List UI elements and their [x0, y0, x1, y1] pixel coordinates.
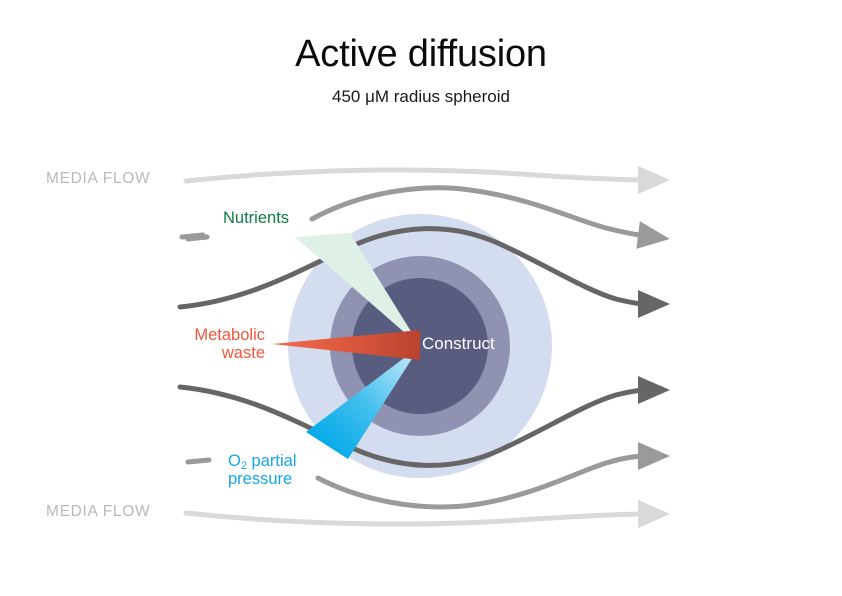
active-diffusion-diagram	[0, 0, 842, 596]
streamline-outer-bottom	[186, 513, 646, 524]
diagram-canvas: Active diffusion 450 μM radius spheroid …	[0, 0, 842, 596]
streamline-outer-top	[186, 170, 646, 181]
streamline-dash-nutrients	[182, 235, 203, 237]
